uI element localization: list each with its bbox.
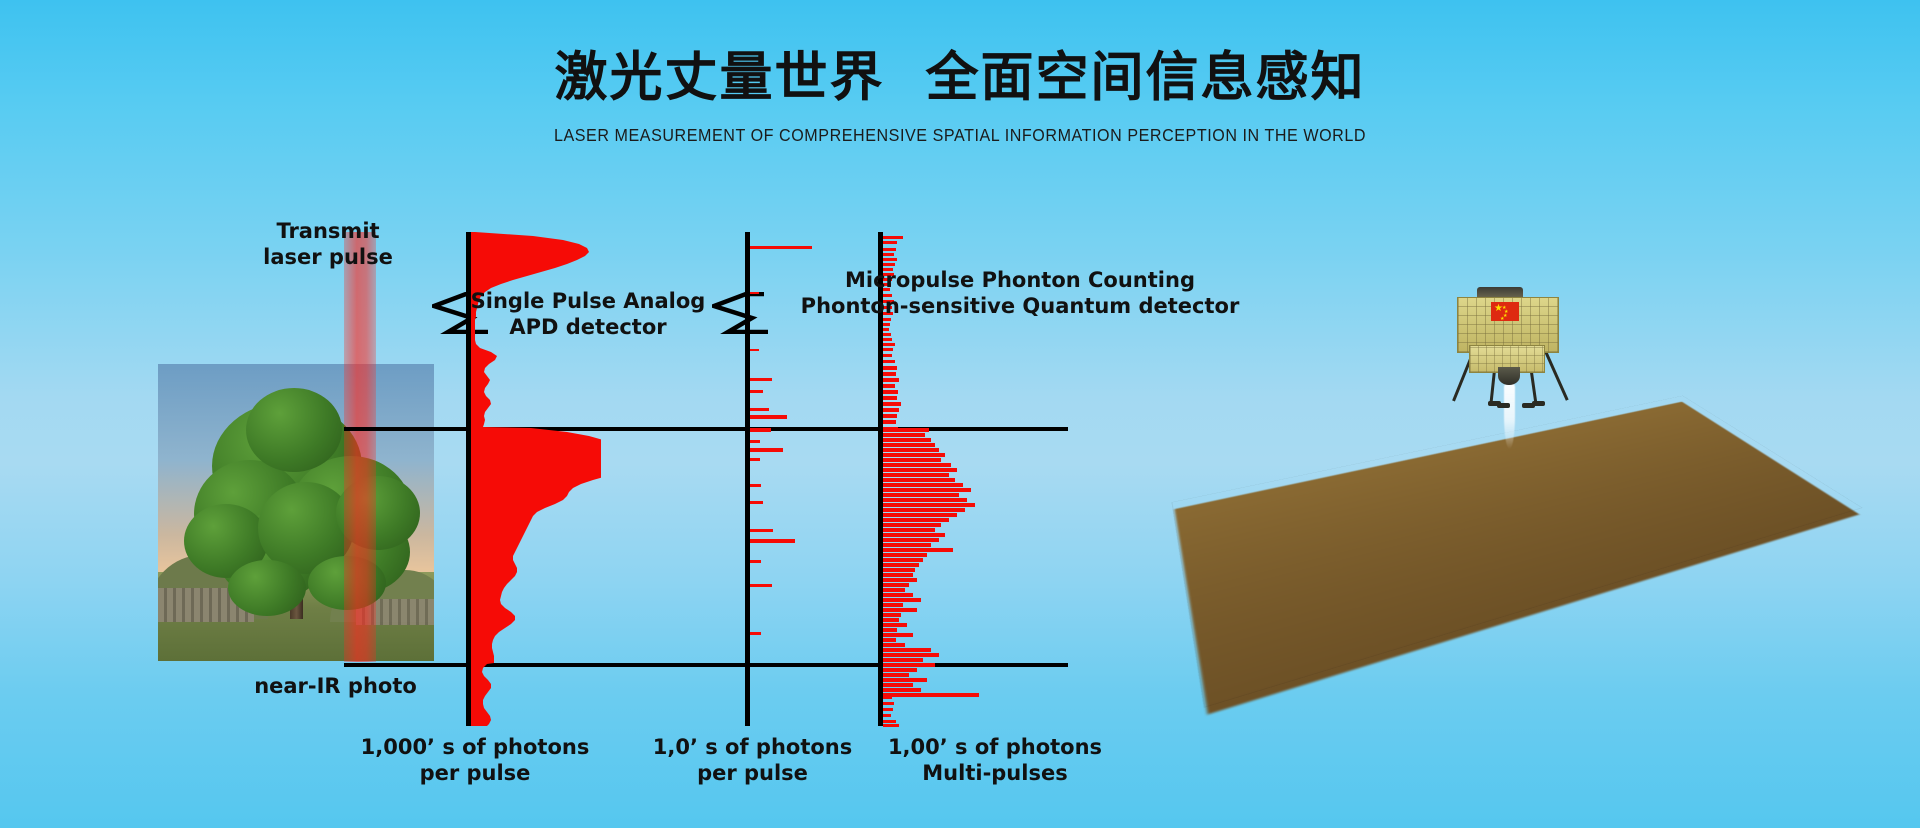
waveform-bar [750, 501, 763, 504]
waveform-bar [883, 420, 896, 424]
waveform-bar [750, 584, 772, 587]
waveform-bar [883, 708, 893, 711]
label-micropulse-detector: Micropulse Phonton Counting Phonton-sens… [800, 268, 1240, 319]
waveform-bar [883, 720, 896, 723]
near-ir-tree-photo [158, 364, 434, 661]
waveform-bar [750, 448, 783, 452]
waveform-bar [883, 693, 979, 697]
waveform-bar [883, 628, 897, 632]
waveform-bar [750, 428, 771, 432]
waveform-bar [883, 372, 896, 376]
waveform-bar [883, 583, 909, 587]
waveform-bar [883, 608, 917, 612]
waveform-bar [883, 518, 949, 522]
waveform-bar [883, 573, 913, 577]
waveform-bar [883, 258, 897, 261]
waveform-bar [883, 578, 917, 582]
waveform-bar [883, 633, 913, 637]
waveform-bar [883, 638, 896, 642]
waveform-bar [883, 468, 957, 472]
waveform-bar [883, 588, 905, 592]
waveform-bar [883, 248, 896, 251]
waveform-bar [883, 338, 892, 341]
terrain-elevation-surface [1173, 396, 1862, 706]
waveform-bar [883, 360, 895, 363]
waveform-bar [750, 408, 769, 411]
engine-plume [1504, 383, 1515, 449]
waveform-bar [750, 292, 759, 294]
waveform-bar [883, 678, 927, 682]
waveform-bar [883, 618, 899, 622]
label-photons-per-pulse-2: 1,0’ s of photons per pulse [620, 735, 885, 786]
waveform-bar [883, 390, 898, 394]
waveform-bar [883, 598, 921, 602]
waveform-bar [883, 593, 913, 597]
lander-leg [1543, 348, 1569, 400]
waveform-bar [750, 560, 761, 563]
waveform-bar [883, 648, 931, 652]
waveform-bar [883, 328, 889, 331]
waveform-bar [883, 438, 931, 442]
china-flag-icon: ★ ★ ★ ★ ★ [1491, 302, 1519, 321]
label-apd-detector: Single Pulse Analog APD detector [428, 289, 748, 340]
waveform-bar [750, 390, 763, 393]
waveform-bar [883, 458, 941, 462]
waveform-bar [883, 433, 925, 437]
waveform-bar [883, 263, 895, 266]
lunar-lander: ★ ★ ★ ★ ★ [1443, 275, 1573, 405]
waveform-bar [883, 478, 955, 482]
waveform-bar [883, 688, 921, 692]
lander-foot [1532, 401, 1545, 406]
label-near-ir-photo: near-IR photo [228, 674, 443, 700]
waveform-bar [883, 428, 929, 432]
waveform-bar [883, 543, 931, 547]
waveform-bar [883, 548, 953, 552]
lander-foot [1497, 403, 1510, 408]
waveform-bar [883, 241, 897, 244]
waveform-bar [750, 458, 760, 461]
waveform-bar [883, 508, 965, 512]
waveform-bar [883, 443, 935, 447]
waveform-bar [883, 696, 892, 699]
lander-engine-nozzle [1498, 367, 1520, 385]
waveform-bar [883, 483, 963, 487]
waveform-bar [883, 453, 945, 457]
waveform-bar [883, 523, 941, 527]
waveform-bar [883, 463, 951, 467]
waveform-bar [750, 378, 772, 381]
waveform-bar [883, 488, 971, 492]
waveform-bar [883, 448, 939, 452]
waveform-bar [883, 493, 959, 497]
waveform-bar [883, 378, 899, 382]
waveform-bar [883, 603, 903, 607]
waveform-bar [883, 498, 967, 502]
waveform-bar [750, 539, 795, 543]
waveform-bar [883, 568, 915, 572]
waveform-bar [750, 349, 759, 351]
waveform-bar [883, 414, 897, 418]
waveform-bar [883, 253, 894, 256]
label-transmit-laser-pulse: Transmit laser pulse [228, 219, 428, 270]
waveform-bar [883, 348, 893, 351]
waveform-bar [883, 528, 935, 532]
waveform-bar [883, 533, 945, 537]
waveform-bar [883, 714, 891, 717]
waveform-bar [883, 658, 923, 662]
waveform-bar [883, 473, 949, 477]
waveform-bar [883, 503, 975, 507]
waveform-bar [883, 673, 909, 677]
waveform-bar [883, 333, 891, 336]
waveform-bar [883, 613, 901, 617]
waveform-bar [883, 408, 899, 412]
waveform-bar [883, 354, 892, 357]
tree-canopy [246, 388, 342, 472]
waveform-bar [750, 632, 761, 635]
slide-root: 激光丈量世界 全面空间信息感知 LASER MEASUREMENT OF COM… [0, 0, 1920, 828]
waveform-bar [883, 683, 913, 687]
waveform-bar [883, 402, 901, 406]
waveform-bar [883, 323, 890, 326]
waveform-bar [883, 623, 907, 627]
waveform-bar [883, 513, 957, 517]
waveform-bar [750, 440, 760, 443]
waveform-bar [883, 663, 935, 667]
waveform-bar [883, 653, 939, 657]
lidar-diagram: Transmit laser pulse near-IR photo Singl… [0, 0, 1200, 828]
waveform-bar [883, 538, 939, 542]
waveform-bar [883, 396, 897, 400]
waveform-bar [750, 415, 787, 419]
waveform-bar [883, 724, 899, 727]
flag-star-small: ★ [1500, 314, 1504, 324]
transmit-laser-beam [344, 232, 376, 662]
waveform-bar [883, 558, 923, 562]
waveform-bar [750, 246, 812, 249]
label-photons-multi-pulses: 1,00’ s of photons Multi-pulses [850, 735, 1140, 786]
waveform-bar [750, 484, 761, 487]
lunar-terrain-visualization: ★ ★ ★ ★ ★ [1175, 275, 1895, 695]
waveform-bar [883, 384, 895, 388]
label-photons-per-pulse-1: 1,000’ s of photons per pulse [330, 735, 620, 786]
waveform-bar [750, 529, 773, 532]
waveform-bar [883, 366, 897, 370]
waveform-bar [883, 563, 919, 567]
waveform-bar [883, 668, 917, 672]
waveform-bar [883, 643, 905, 647]
waveform-bar [883, 553, 927, 557]
waveform-bar [883, 343, 895, 346]
waveform-bar [883, 236, 903, 239]
tree-canopy [228, 560, 306, 616]
waveform-bar [883, 702, 894, 705]
